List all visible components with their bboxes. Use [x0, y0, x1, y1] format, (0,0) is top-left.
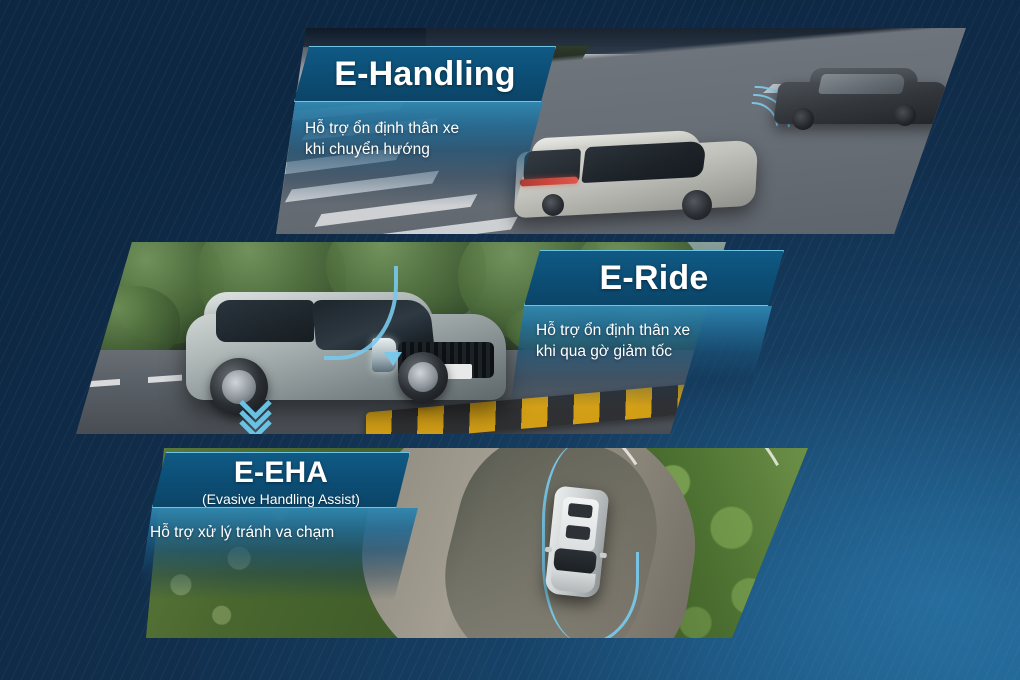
caption-text: Hỗ trợ xử lý tránh va chạm	[138, 508, 418, 543]
vehicle-main-silver-suv	[506, 128, 766, 224]
panel-title: E-Handling	[334, 57, 515, 91]
infographic-stage: E-Handling Hỗ trợ ổn định thân xe khi ch…	[0, 0, 1020, 680]
vehicle-aerial-white-suv	[545, 485, 610, 598]
panel-title: E-Ride	[600, 261, 709, 295]
caption-e-ride: Hỗ trợ ổn định thân xe khi qua gờ giảm t…	[510, 306, 772, 406]
caption-text: Hỗ trợ ổn định thân xe khi chuyển hướng	[281, 102, 543, 161]
caption-e-eha: Hỗ trợ xử lý tránh va chạm	[138, 508, 418, 600]
panel-subtitle: (Evasive Handling Assist)	[202, 492, 360, 506]
caption-e-handling: Hỗ trợ ổn định thân xe khi chuyển hướng	[281, 102, 543, 206]
title-bar-e-handling: E-Handling	[294, 46, 556, 102]
caption-text: Hỗ trợ ổn định thân xe khi qua gờ giảm t…	[510, 306, 772, 363]
title-bar-e-eha: E-EHA (Evasive Handling Assist)	[152, 452, 410, 508]
title-bar-e-ride: E-Ride	[524, 250, 784, 306]
vehicle-ahead-dark-suv	[776, 64, 954, 136]
panel-title: E-EHA	[234, 458, 328, 488]
